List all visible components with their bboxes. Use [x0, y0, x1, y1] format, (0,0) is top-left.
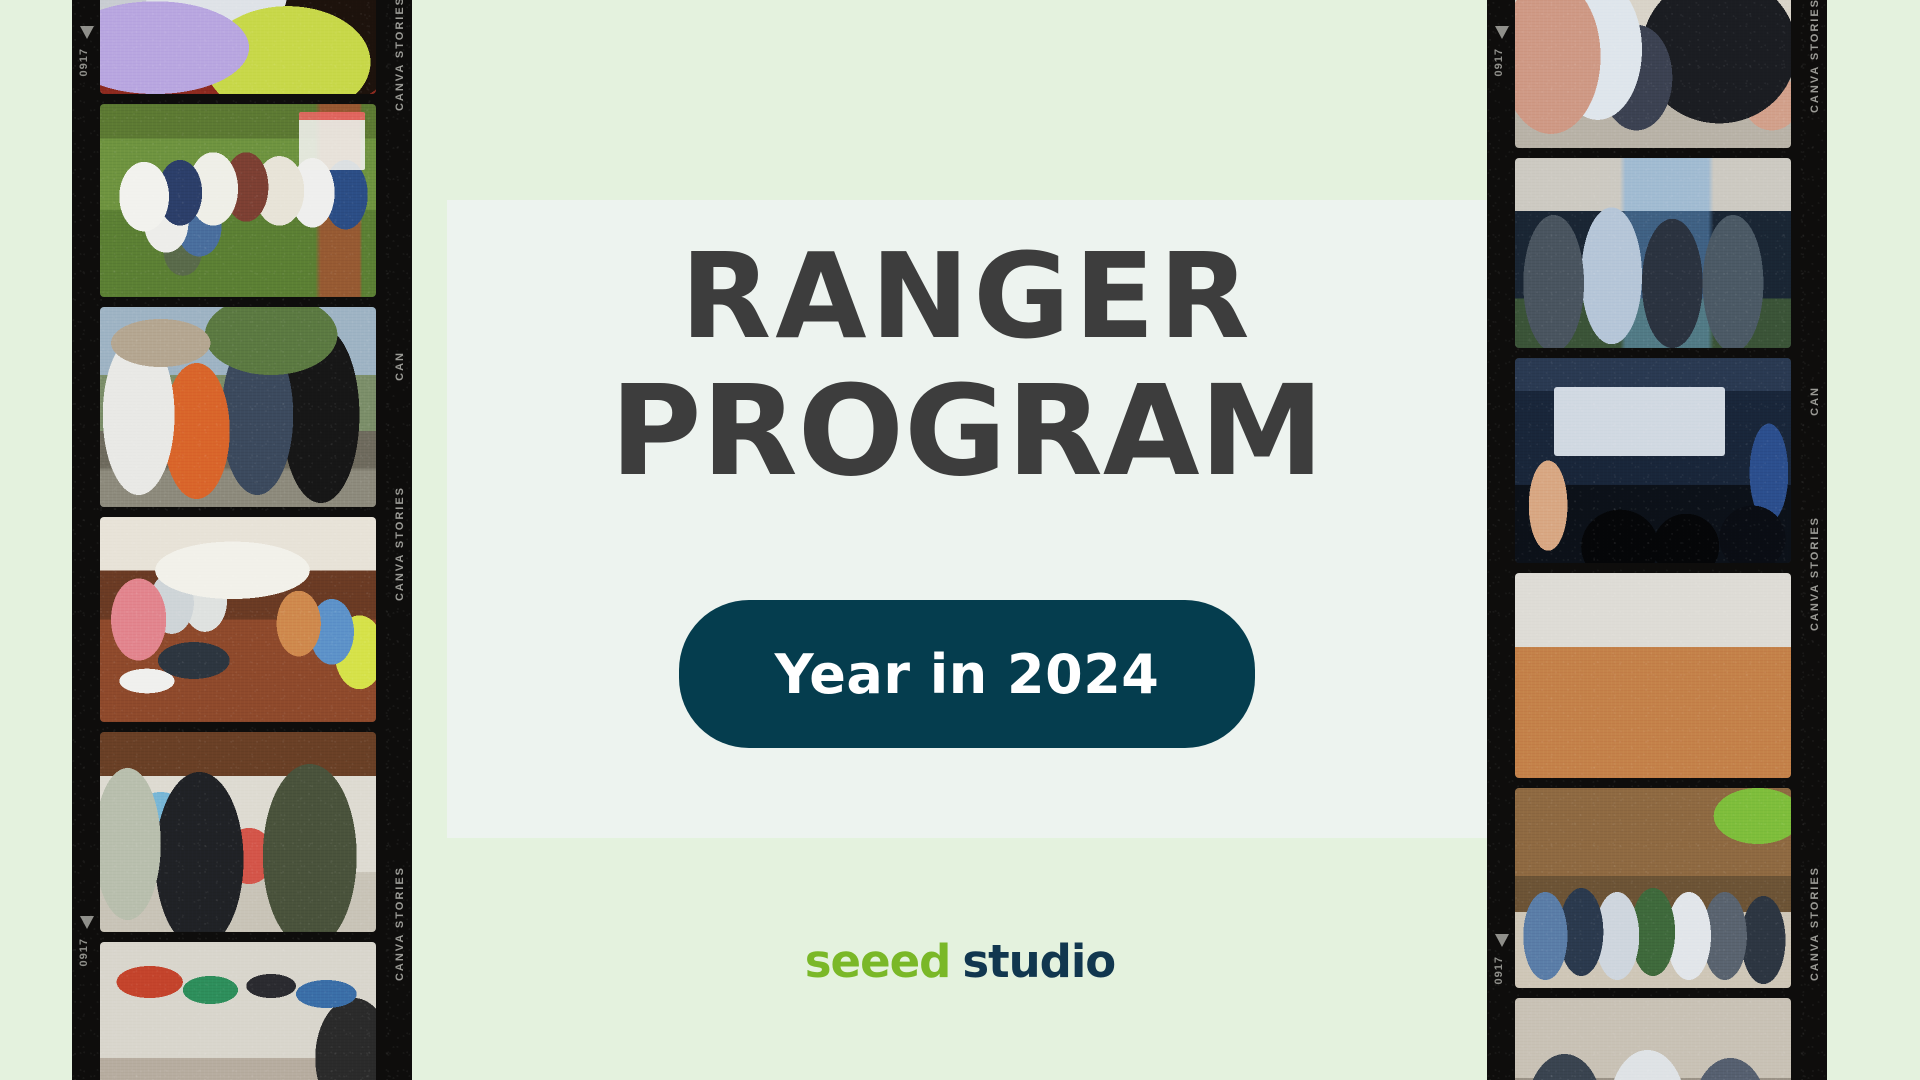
- film-edge-text-right-mid: CAN: [1809, 386, 1821, 416]
- year-in-2024-button[interactable]: Year in 2024: [679, 600, 1256, 748]
- title-line-1: RANGER: [447, 230, 1487, 362]
- title-line-2: PROGRAM: [447, 362, 1487, 502]
- film-arrow-marker-left-bottom: [80, 916, 94, 929]
- film-frame-number-left-top: 0917: [78, 48, 90, 76]
- page-title: RANGER PROGRAM: [447, 230, 1487, 502]
- film-frame-number-right-top: 0917: [1493, 48, 1505, 76]
- film-photo-right-1: [1515, 0, 1791, 148]
- film-edge-text-left-mid: CAN: [394, 351, 406, 381]
- film-photo-right-4: [1515, 573, 1791, 778]
- film-edge-text-right-top: CANVA STORIES: [1809, 0, 1821, 113]
- logo-word-seeed: seeed: [805, 935, 951, 988]
- film-photo-left-3: [100, 307, 376, 507]
- film-photo-right-3: [1515, 358, 1791, 563]
- film-arrow-marker-left-top: [80, 26, 94, 39]
- seeed-studio-logo: seeed studio: [0, 935, 1920, 988]
- poster-canvas: 0917 CANVA STORIES CAN CANVA STORIES 091…: [0, 0, 1920, 1080]
- film-frame-track-right: [1515, 0, 1791, 1080]
- film-frame-track-left: [100, 0, 376, 1080]
- film-arrow-marker-right-top: [1495, 26, 1509, 39]
- film-photo-left-1: [100, 0, 376, 94]
- film-photo-right-2: [1515, 158, 1791, 348]
- hero-panel: RANGER PROGRAM Year in 2024: [447, 200, 1487, 838]
- film-strip-right: 0917 CANVA STORIES CAN CANVA STORIES 091…: [1487, 0, 1827, 1080]
- film-photo-left-5: [100, 732, 376, 932]
- logo-word-studio: studio: [962, 935, 1115, 988]
- film-edge-text-left-top: CANVA STORIES: [394, 0, 406, 111]
- film-edge-text-right-lower: CANVA STORIES: [1809, 516, 1821, 631]
- film-strip-left: 0917 CANVA STORIES CAN CANVA STORIES 091…: [72, 0, 412, 1080]
- cta-container: Year in 2024: [447, 600, 1487, 748]
- film-photo-left-4: [100, 517, 376, 722]
- film-photo-right-6: [1515, 998, 1791, 1080]
- film-edge-text-left-lower: CANVA STORIES: [394, 486, 406, 601]
- film-photo-left-2: [100, 104, 376, 297]
